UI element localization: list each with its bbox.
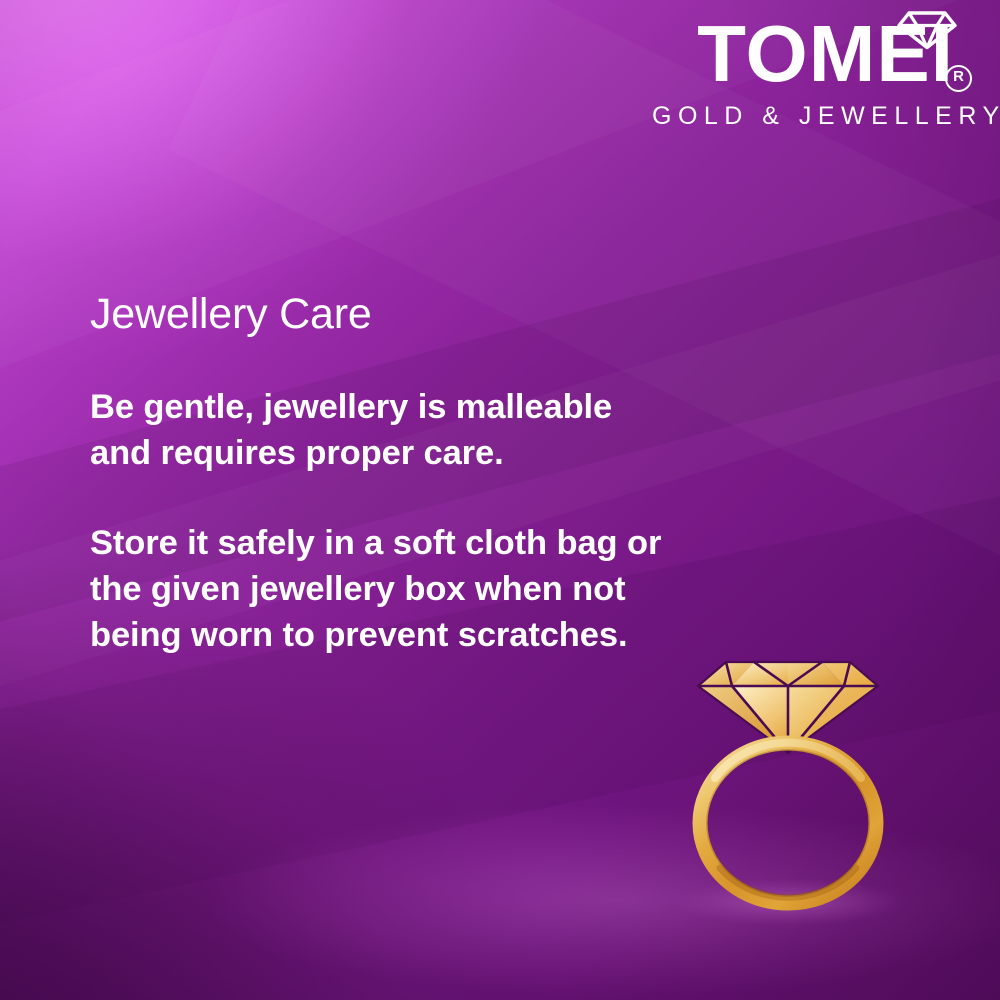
ring-svg <box>660 640 920 930</box>
logo-wordmark-row: TOMEI R <box>652 8 982 100</box>
care-paragraph-2: Store it safely in a soft cloth bag or t… <box>90 520 670 658</box>
diamond-outline-icon <box>896 10 958 50</box>
page-title: Jewellery Care <box>90 288 670 340</box>
copy-block: Jewellery Care Be gentle, jewellery is m… <box>90 288 670 658</box>
jewellery-care-card: TOMEI R GOLD & JEWELLERY Jewellery Care … <box>0 0 1000 1000</box>
tomei-logo: TOMEI R GOLD & JEWELLERY <box>652 8 982 131</box>
registered-trademark-icon: R <box>945 65 972 92</box>
logo-tagline: GOLD & JEWELLERY <box>652 102 982 131</box>
diamond-ring-illustration <box>660 640 920 930</box>
care-paragraph-1: Be gentle, jewellery is malleable and re… <box>90 384 670 476</box>
